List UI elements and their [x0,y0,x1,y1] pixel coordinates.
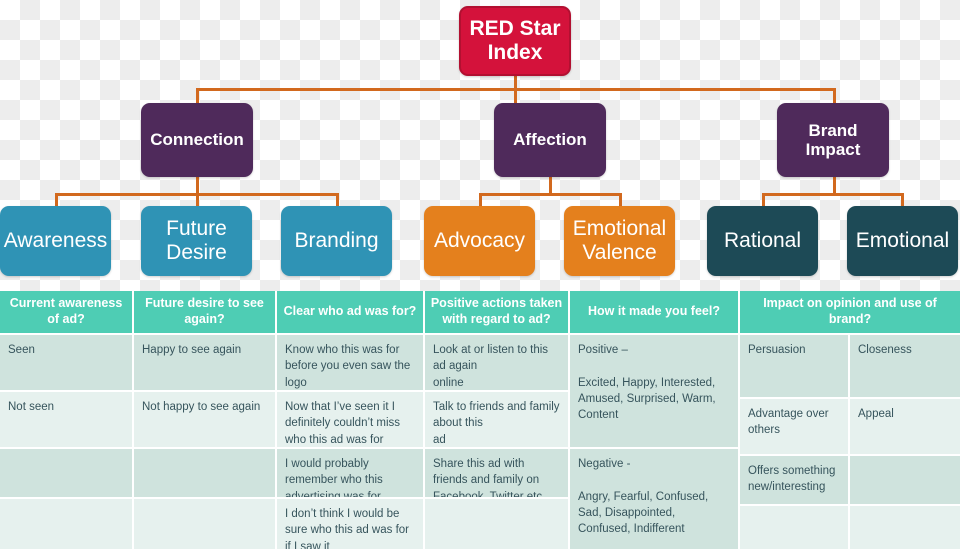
node-future-desire[interactable]: Future Desire [141,206,252,276]
connector-to-brand-impact [833,88,836,103]
node-emotional[interactable]: Emotional [847,206,958,276]
table-cell-col6a-row1: Persuasion [740,335,850,399]
connector-to-emotional-valence [619,193,622,207]
table-cell-col6b-row1: Closeness [850,335,960,399]
connector-to-branding [336,193,339,207]
table-cell-col6a-row3: Offers something new/interesting [740,456,850,506]
table-cell-col5-positive: Positive – Excited, Happy, Interested, A… [570,335,740,449]
connector-affection-down [549,176,552,193]
diagram-canvas: RED Star Index Connection Affection Bran… [0,0,960,549]
table-cell-col3-row3: I would probably remember who this adver… [277,449,425,499]
node-affection[interactable]: Affection [494,103,606,177]
connector-connection-down [196,176,199,193]
node-emotional-valence[interactable]: Emotional Valence [564,206,675,276]
connector-to-future-desire [196,193,199,207]
table-cell-col2-row1: Happy to see again [134,335,277,392]
node-red-star-index[interactable]: RED Star Index [459,6,571,76]
connector-to-emotional [901,193,904,207]
node-branding[interactable]: Branding [281,206,392,276]
connector-to-connection [196,88,199,103]
node-awareness[interactable]: Awareness [0,206,111,276]
table-cell-col2-row3 [134,449,277,499]
table-cell-col2-row2: Not happy to see again [134,392,277,449]
table-cell-col3-row4: I don’t think I would be sure who this a… [277,499,425,549]
table-cell-col5-negative: Negative - Angry, Fearful, Confused, Sad… [570,449,740,549]
table-cell-col6b-row3 [850,456,960,506]
connector-brand-impact-bus [762,193,904,196]
table-header-clear-who: Clear who ad was for? [277,291,425,335]
table-header-how-it-made-you-feel: How it made you feel? [570,291,740,335]
node-connection[interactable]: Connection [141,103,253,177]
table-cell-col4-row1: Look at or listen to this ad again onlin… [425,335,570,392]
table-cell-col4-row4 [425,499,570,549]
node-rational[interactable]: Rational [707,206,818,276]
table-header-impact-on-opinion: Impact on opinion and use of brand? [740,291,960,335]
node-advocacy[interactable]: Advocacy [424,206,535,276]
table-header-current-awareness: Current awareness of ad? [0,291,134,335]
table-cell-col1-row1: Seen [0,335,134,392]
table-cell-col3-row1: Know who this was for before you even sa… [277,335,425,392]
table-cell-col6a-row2: Advantage over others [740,399,850,456]
table-cell-col1-row4 [0,499,134,549]
table-cell-col6a-row4 [740,506,850,549]
connector-to-awareness [55,193,58,207]
connector-brand-impact-down [833,176,836,193]
table-cell-col4-row2: Talk to friends and family about this ad [425,392,570,449]
node-brand-impact[interactable]: Brand Impact [777,103,889,177]
table-cell-col2-row4 [134,499,277,549]
table-cell-col6b-row2: Appeal [850,399,960,456]
connector-to-rational [762,193,765,207]
attributes-table: Current awareness of ad? Future desire t… [0,291,960,549]
connector-affection-bus [479,193,622,196]
table-header-positive-actions: Positive actions taken with regard to ad… [425,291,570,335]
table-cell-col6b-row4 [850,506,960,549]
table-cell-col4-row3: Share this ad with friends and family on… [425,449,570,499]
table-cell-col1-row2: Not seen [0,392,134,449]
table-cell-col3-row2: Now that I’ve seen it I definitely could… [277,392,425,449]
table-header-future-desire: Future desire to see again? [134,291,277,335]
connector-to-advocacy [479,193,482,207]
table-cell-col1-row3 [0,449,134,499]
connector-to-affection [514,88,517,103]
